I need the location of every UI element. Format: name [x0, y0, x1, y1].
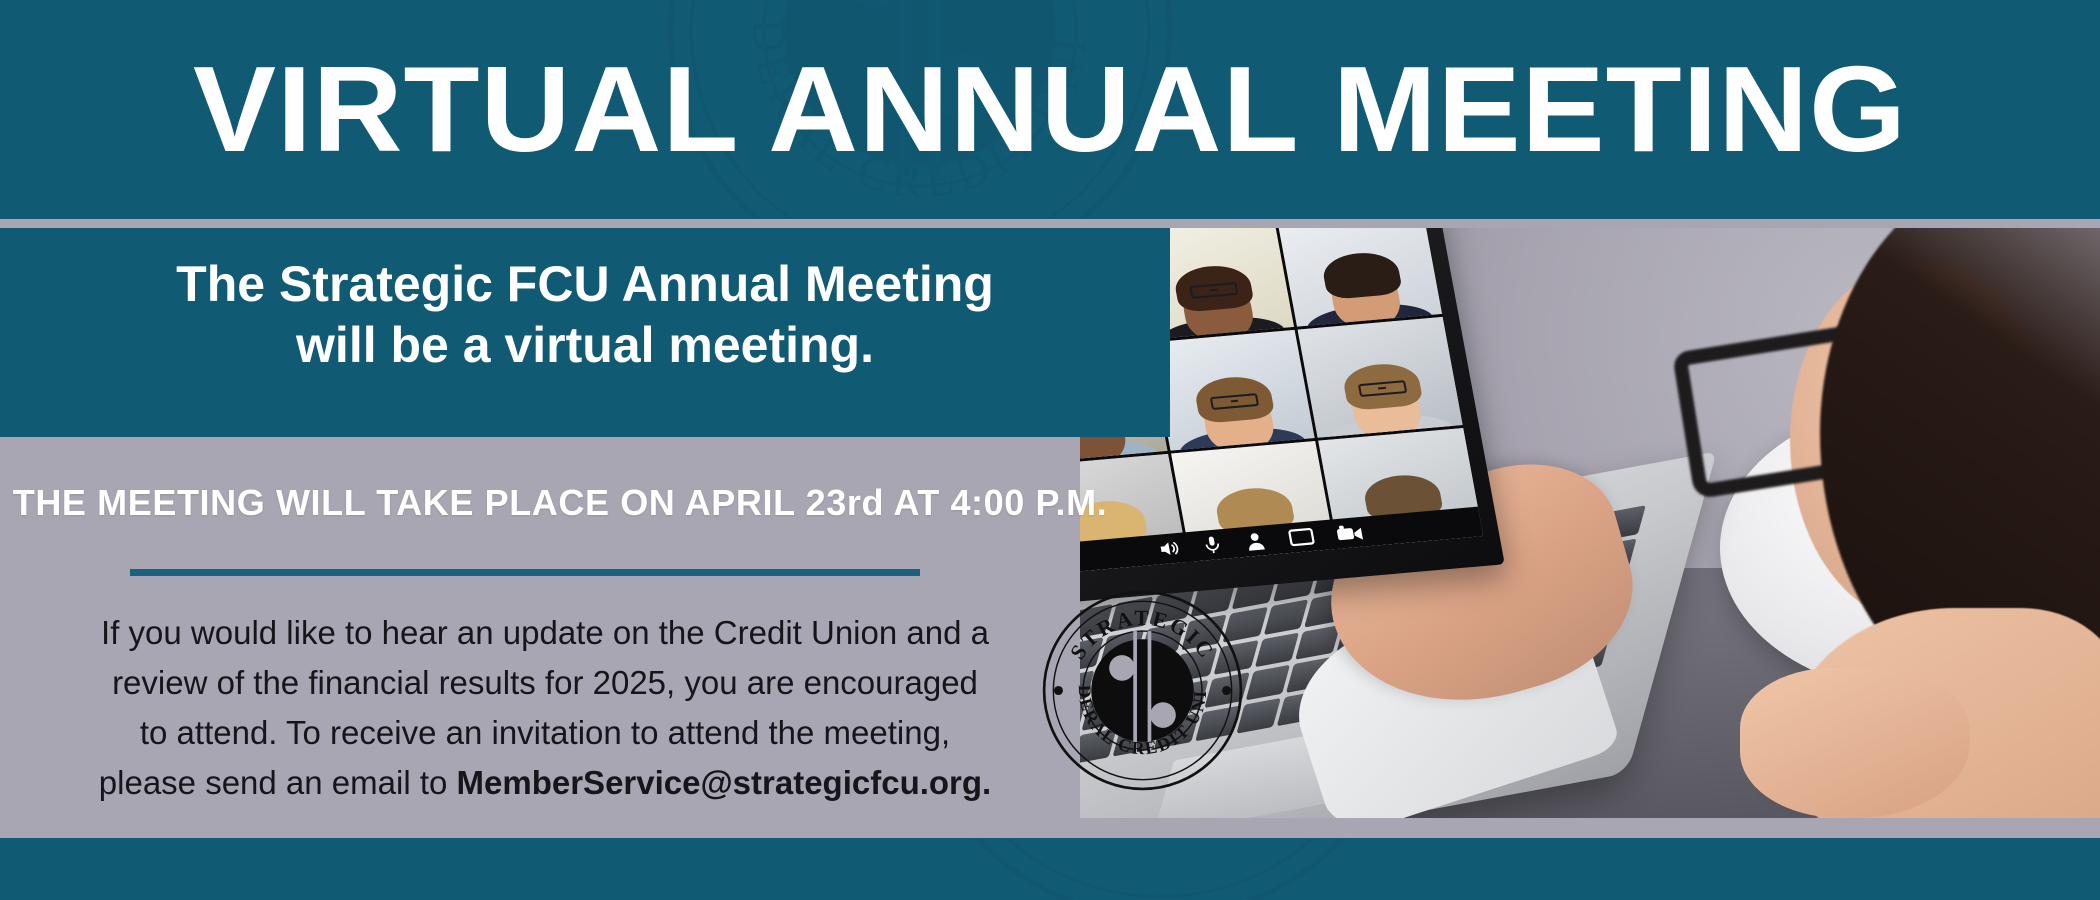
page-title: VIRTUAL ANNUAL MEETING: [0, 0, 2100, 219]
woman-using-computer: [1690, 228, 2100, 818]
microphone-icon[interactable]: [1200, 533, 1224, 556]
header-bar: STRATEGIC FEDERAL CREDIT UNION VIRTUAL A…: [0, 0, 2100, 219]
subheadline-line-2: will be a virtual meeting.: [296, 317, 874, 373]
body-line-2: review of the financial results for 2025…: [112, 664, 978, 701]
body-copy: If you would like to hear an update on t…: [40, 608, 1050, 809]
divider-rule: [130, 569, 920, 576]
footer-bar: STRATEGIC FEDERAL CREDIT UNION: [0, 838, 2100, 900]
body-line-1: If you would like to hear an update on t…: [101, 614, 989, 651]
body-line-3: to attend. To receive an invitation to a…: [140, 714, 950, 751]
participant-tile: [1150, 330, 1315, 451]
participant-tile: [1298, 317, 1463, 438]
virtual-annual-meeting-banner: STRATEGIC FEDERAL CREDIT UNION VIRTUAL A…: [0, 0, 2100, 900]
meeting-time-text: THE MEETING WILL TAKE PLACE ON APRIL 23r…: [0, 482, 1120, 524]
participants-icon[interactable]: [1242, 529, 1268, 553]
camera-icon[interactable]: [1335, 522, 1365, 544]
screen-share-icon[interactable]: [1286, 525, 1316, 549]
subheadline-line-1: The Strategic FCU Annual Meeting: [176, 256, 994, 312]
body-line-4-prefix: please send an email to: [99, 764, 457, 801]
woman-hand: [1740, 668, 1970, 818]
contact-email[interactable]: MemberService@strategicfcu.org.: [457, 764, 992, 801]
speaker-icon[interactable]: [1156, 537, 1182, 561]
svg-text:FEDERAL CREDIT UNION: FEDERAL CREDIT UNION: [900, 838, 1338, 846]
participant-tile: [1277, 228, 1442, 327]
seal-watermark-icon: STRATEGIC FEDERAL CREDIT UNION: [900, 838, 1420, 900]
subheadline-block: The Strategic FCU Annual Meeting will be…: [0, 228, 1170, 437]
strategic-fcu-logo: STRATEGIC FEDERAL CREDIT UNION: [1040, 588, 1245, 793]
